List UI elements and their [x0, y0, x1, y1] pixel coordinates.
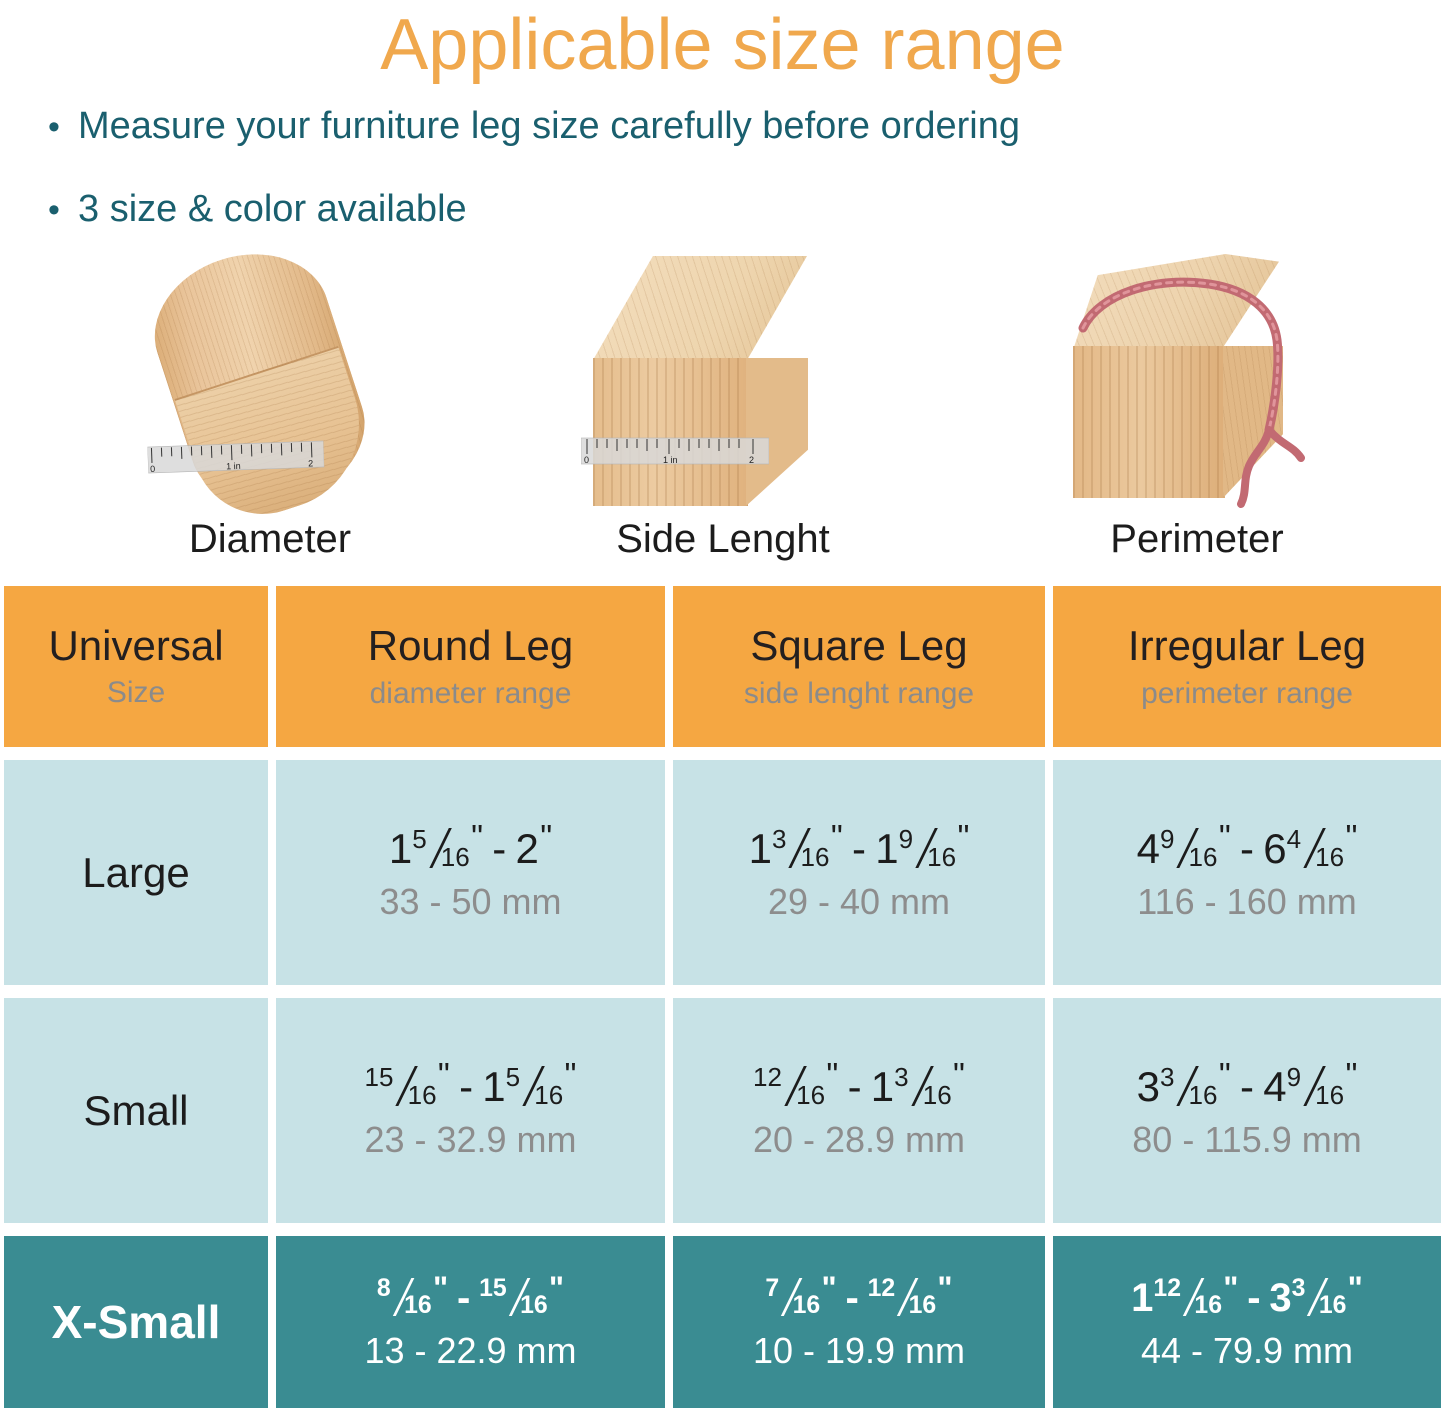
- round-leg-cylinder-icon: 0 1 in 2: [120, 246, 420, 518]
- header-cell-universal-size: Universal Size: [4, 586, 268, 747]
- illustration-side-length: 0 1 in 2 Side Lenght: [508, 246, 938, 578]
- mm-range: 116 - 160 mm: [1137, 879, 1356, 925]
- irregular-leg-rope-icon: [1047, 246, 1347, 518]
- mm-range: 20 - 28.9 mm: [753, 1117, 965, 1163]
- header-cell-irregular-leg: Irregular Leg perimeter range: [1053, 586, 1441, 747]
- inch-range: 11216"-3316": [1131, 1270, 1363, 1326]
- illustration-label: Side Lenght: [616, 514, 830, 564]
- mm-range: 33 - 50 mm: [379, 879, 561, 925]
- list-item: • 3 size & color available: [48, 179, 1445, 240]
- bullet-text: 3 size & color available: [78, 179, 467, 239]
- mm-range: 44 - 79.9 mm: [1141, 1328, 1353, 1374]
- svg-text:0: 0: [584, 455, 589, 465]
- mm-range: 80 - 115.9 mm: [1132, 1117, 1361, 1163]
- inch-range: 4916"-6416": [1137, 821, 1358, 877]
- inch-range: 716"-1216": [765, 1270, 952, 1326]
- size-name: Large: [82, 849, 189, 897]
- size-name: X-Small: [52, 1295, 221, 1349]
- cell-x-small-round: 816"-1516" 13 - 22.9 mm: [276, 1236, 665, 1408]
- page-title: Applicable size range: [0, 0, 1445, 88]
- size-chart-table: Universal Size Round Leg diameter range …: [4, 586, 1441, 1408]
- header-sub: side lenght range: [744, 674, 974, 714]
- bullet-dot-icon: •: [48, 180, 78, 240]
- inch-range: 1316"-1916": [749, 821, 970, 877]
- cell-large-round: 1516"-2" 33 - 50 mm: [276, 760, 665, 985]
- header-main: Universal: [48, 621, 223, 671]
- inch-range: 1516"-2": [389, 821, 552, 877]
- mm-range: 10 - 19.9 mm: [753, 1328, 965, 1374]
- table-header-row: Universal Size Round Leg diameter range …: [4, 586, 1441, 747]
- table-row: Large 1516"-2" 33 - 50 mm 1316"-1916" 29…: [4, 760, 1441, 985]
- rope-icon: [1069, 254, 1319, 510]
- mm-range: 29 - 40 mm: [768, 879, 950, 925]
- illustration-label: Perimeter: [1110, 514, 1283, 564]
- bullet-list: • Measure your furniture leg size carefu…: [0, 88, 1445, 240]
- inch-range: 3316"-4916": [1137, 1059, 1358, 1115]
- cell-small-irregular: 3316"-4916" 80 - 115.9 mm: [1053, 998, 1441, 1223]
- infographic-page: Applicable size range • Measure your fur…: [0, 0, 1445, 1409]
- mm-range: 23 - 32.9 mm: [364, 1117, 576, 1163]
- header-main: Round Leg: [368, 620, 574, 672]
- measurement-illustrations: 0 1 in 2 Diameter: [0, 246, 1445, 578]
- cell-large-irregular: 4916"-6416" 116 - 160 mm: [1053, 760, 1441, 985]
- list-item: • Measure your furniture leg size carefu…: [48, 96, 1445, 157]
- header-cell-round-leg: Round Leg diameter range: [276, 586, 665, 747]
- svg-text:2: 2: [308, 458, 313, 468]
- header-sub: perimeter range: [1141, 674, 1353, 714]
- table-row: X-Small 816"-1516" 13 - 22.9 mm 716"-121…: [4, 1236, 1441, 1408]
- cell-small-round: 1516"-1516" 23 - 32.9 mm: [276, 998, 665, 1223]
- header-sub: diameter range: [370, 674, 572, 714]
- bullet-dot-icon: •: [48, 97, 78, 157]
- ruler-icon: 0 1 in 2: [581, 436, 769, 476]
- cell-x-small-square: 716"-1216" 10 - 19.9 mm: [673, 1236, 1045, 1408]
- table-row: Small 1516"-1516" 23 - 32.9 mm 1216"-131…: [4, 998, 1441, 1223]
- row-label-large: Large: [4, 760, 268, 985]
- inch-range: 816"-1516": [377, 1270, 564, 1326]
- header-cell-square-leg: Square Leg side lenght range: [673, 586, 1045, 747]
- row-label-x-small: X-Small: [4, 1236, 268, 1408]
- size-name: Small: [83, 1087, 188, 1135]
- cell-x-small-irregular: 11216"-3316" 44 - 79.9 mm: [1053, 1236, 1441, 1408]
- illustration-perimeter: Perimeter: [982, 246, 1412, 578]
- header-sub: Size: [107, 673, 165, 713]
- inch-range: 1516"-1516": [365, 1059, 577, 1115]
- svg-text:0: 0: [150, 464, 155, 474]
- mm-range: 13 - 22.9 mm: [364, 1328, 576, 1374]
- cell-small-square: 1216"-1316" 20 - 28.9 mm: [673, 998, 1045, 1223]
- bullet-text: Measure your furniture leg size carefull…: [78, 96, 1020, 156]
- svg-text:2: 2: [749, 455, 754, 465]
- header-main: Square Leg: [750, 620, 967, 672]
- cell-large-square: 1316"-1916" 29 - 40 mm: [673, 760, 1045, 985]
- header-main: Irregular Leg: [1128, 620, 1366, 672]
- svg-text:1 in: 1 in: [663, 455, 678, 465]
- square-leg-box-icon: 0 1 in 2: [573, 246, 873, 518]
- illustration-diameter: 0 1 in 2 Diameter: [55, 246, 485, 578]
- ruler-icon: 0 1 in 2: [147, 439, 324, 485]
- inch-range: 1216"-1316": [753, 1059, 965, 1115]
- svg-text:1 in: 1 in: [226, 461, 241, 472]
- row-label-small: Small: [4, 998, 268, 1223]
